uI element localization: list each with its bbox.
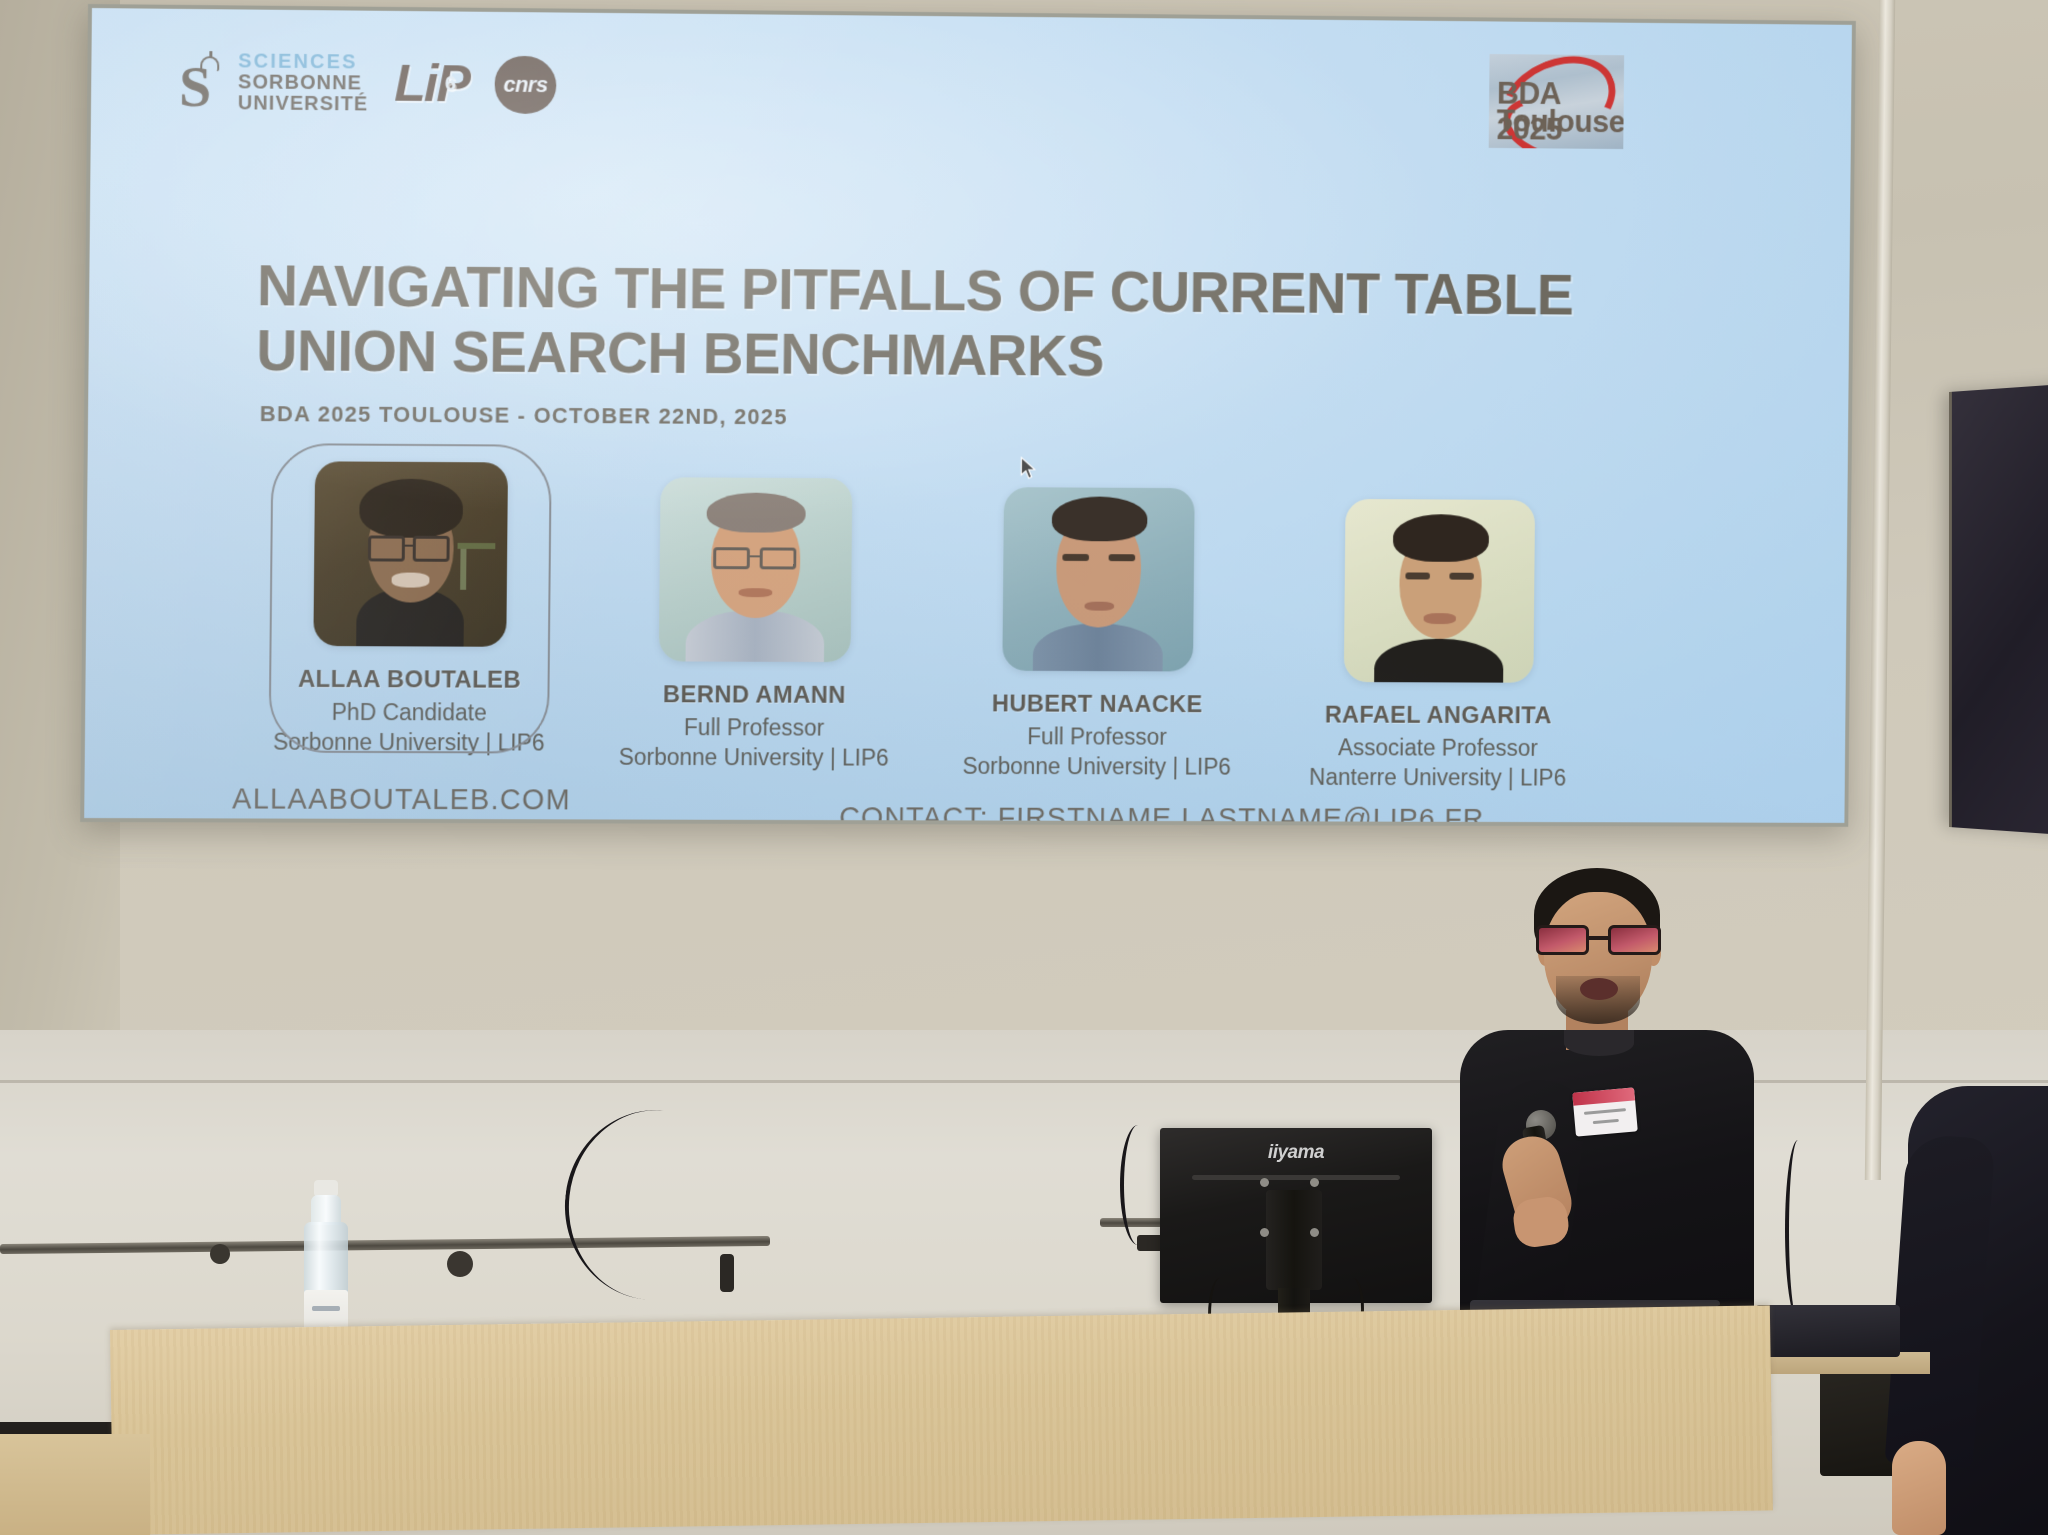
gooseneck-microphone [1785, 1140, 1811, 1320]
sorbonne-wordmark: SCIENCES SORBONNE UNIVERSITÉ [238, 51, 369, 114]
lip6-label: LiP [394, 55, 469, 113]
vesa-screw [1310, 1228, 1319, 1237]
sunglasses-left-lens [1536, 925, 1589, 955]
vesa-screw [1310, 1178, 1319, 1187]
laptop-secondary [1755, 1305, 1900, 1357]
slide-title: NAVIGATING THE PITFALLS OF CURRENT TABLE… [256, 254, 1715, 393]
badge-text-line [1593, 1119, 1619, 1124]
author-affiliation: Sorbonne University | LIP6 [590, 744, 916, 772]
wall-panel-display [1949, 383, 2048, 836]
author-role: Associate Professor [1276, 734, 1599, 762]
presenter-mouth [1580, 978, 1618, 1000]
author-name: RAFAEL ANGARITA [1277, 702, 1600, 731]
author-role: Full Professor [935, 723, 1260, 751]
sunglasses-right-lens [1608, 925, 1661, 955]
slide-contact: CONTACT: FIRSTNAME.LASTNAME@LIP6.FR [839, 802, 1484, 823]
sorbonne-s-glyph: S [179, 58, 210, 116]
bottle-neck [311, 1195, 341, 1225]
cnrs-logo: cnrs [494, 56, 556, 114]
bystander-hand [1892, 1441, 1946, 1535]
sorbonne-university-logo: S SCIENCES SORBONNE UNIVERSITÉ [179, 51, 369, 115]
avatar [659, 477, 853, 662]
projection-screen-frame: S SCIENCES SORBONNE UNIVERSITÉ LiP6 cnrs [80, 4, 1856, 827]
author-card: HUBERT NAACKE Full Professor Sorbonne Un… [934, 487, 1261, 781]
projection-screen: S SCIENCES SORBONNE UNIVERSITÉ LiP6 cnrs [84, 8, 1852, 823]
author-affiliation: Nanterre University | LIP6 [1276, 764, 1599, 792]
vesa-screw [1260, 1228, 1269, 1237]
iiyama-monitor: iiyama [1160, 1128, 1432, 1340]
sunglasses-icon [1536, 925, 1662, 955]
slide-website: ALLAABOUTALEB.COM [232, 783, 571, 817]
lip6-logo: LiP6 [394, 58, 469, 111]
monitor-vesa-mount [1266, 1190, 1322, 1290]
author-name: BERND AMANN [591, 681, 917, 710]
lip6-superscript: 6 [445, 74, 456, 94]
author-role: Full Professor [591, 714, 917, 742]
sorbonne-line-2: SORBONNE [238, 72, 369, 94]
author-card: RAFAEL ANGARITA Associate Professor Nant… [1276, 499, 1601, 792]
bda-logo-line-2: Toulouse [1497, 104, 1625, 141]
sorbonne-line-1: SCIENCES [238, 51, 369, 73]
bystander [1890, 1086, 2048, 1535]
vesa-screw [1260, 1178, 1269, 1187]
author-card-row: ALLAA BOUTALEB PhD Candidate Sorbonne Un… [244, 461, 1705, 775]
avatar [1002, 487, 1194, 671]
scene-photo: S SCIENCES SORBONNE UNIVERSITÉ LiP6 cnrs [0, 0, 2048, 1535]
sorbonne-line-3: UNIVERSITÉ [238, 93, 369, 115]
author-affiliation: Sorbonne University | LIP6 [934, 753, 1259, 781]
monitor-brand-label: iiyama [1160, 1142, 1432, 1164]
wooden-podium [110, 1305, 1773, 1535]
water-bottle [303, 1180, 349, 1340]
author-card: ALLAA BOUTALEB PhD Candidate Sorbonne Un… [245, 461, 576, 757]
conference-name-badge [1572, 1087, 1638, 1136]
sorbonne-s-icon: S [179, 54, 229, 110]
sunglasses-bridge [1589, 936, 1609, 940]
mic-mount-knob [210, 1244, 230, 1264]
badge-text-line [1584, 1108, 1626, 1115]
monitor-vent [1192, 1175, 1400, 1180]
bda-conference-logo: BDA 2025 Toulouse [1489, 54, 1624, 149]
gooseneck-microphone [1120, 1125, 1156, 1245]
avatar [1344, 499, 1535, 683]
avatar [313, 461, 508, 646]
slide-logo-row: S SCIENCES SORBONNE UNIVERSITÉ LiP6 cnrs [179, 51, 557, 117]
mic-mount-knob [447, 1251, 473, 1277]
podium-left-panel [0, 1434, 150, 1535]
author-name: HUBERT NAACKE [935, 690, 1260, 719]
presenter-collar [1564, 1030, 1634, 1056]
slide-subtitle: BDA 2025 TOULOUSE - OCTOBER 22ND, 2025 [260, 401, 788, 430]
author-card: BERND AMANN Full Professor Sorbonne Univ… [590, 477, 919, 772]
presentation-slide: S SCIENCES SORBONNE UNIVERSITÉ LiP6 cnrs [84, 8, 1852, 823]
